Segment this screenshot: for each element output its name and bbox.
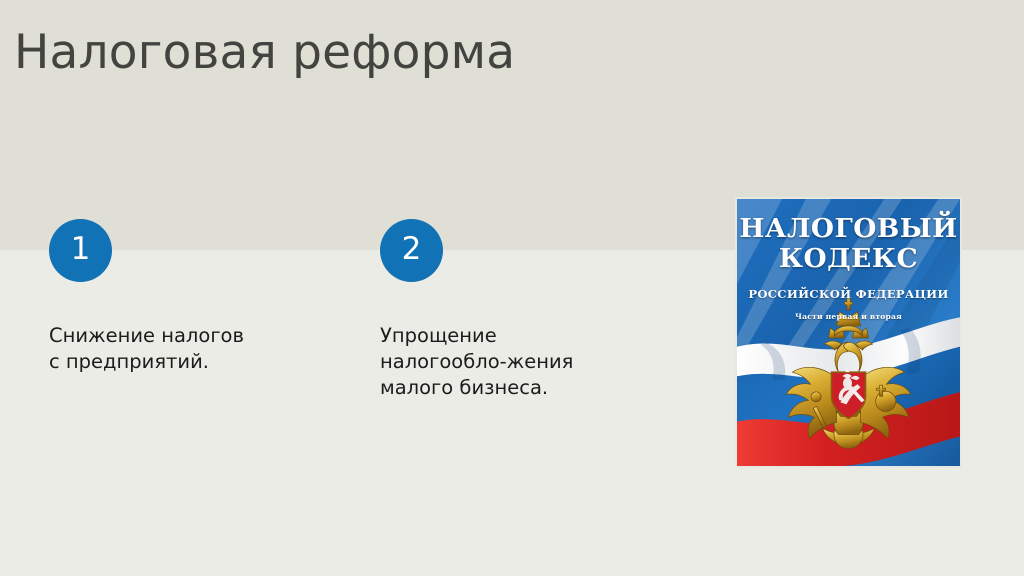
step-description-1: Снижение налогов с предприятий. bbox=[49, 323, 299, 375]
step-description-2: Упрощение налогообло-жения малого бизнес… bbox=[380, 323, 640, 401]
russian-flag-illustration bbox=[737, 199, 960, 466]
list-item: 1 Снижение налогов с предприятий. bbox=[49, 219, 349, 375]
tax-code-book-image: НАЛОГОВЫЙ КОДЕКС РОССИЙСКОЙ ФЕДЕРАЦИИ Ча… bbox=[735, 197, 962, 468]
list-item: 2 Упрощение налогообло-жения малого бизн… bbox=[380, 219, 680, 401]
step-number-badge-1: 1 bbox=[49, 219, 112, 282]
book-cover-artwork: НАЛОГОВЫЙ КОДЕКС РОССИЙСКОЙ ФЕДЕРАЦИИ Ча… bbox=[737, 199, 960, 466]
page-title: Налоговая реформа bbox=[14, 25, 914, 80]
slide: Налоговая реформа 1 Снижение налогов с п… bbox=[0, 0, 1024, 576]
step-number-label: 1 bbox=[71, 234, 91, 265]
step-number-label: 2 bbox=[402, 234, 422, 265]
step-number-badge-2: 2 bbox=[380, 219, 443, 282]
